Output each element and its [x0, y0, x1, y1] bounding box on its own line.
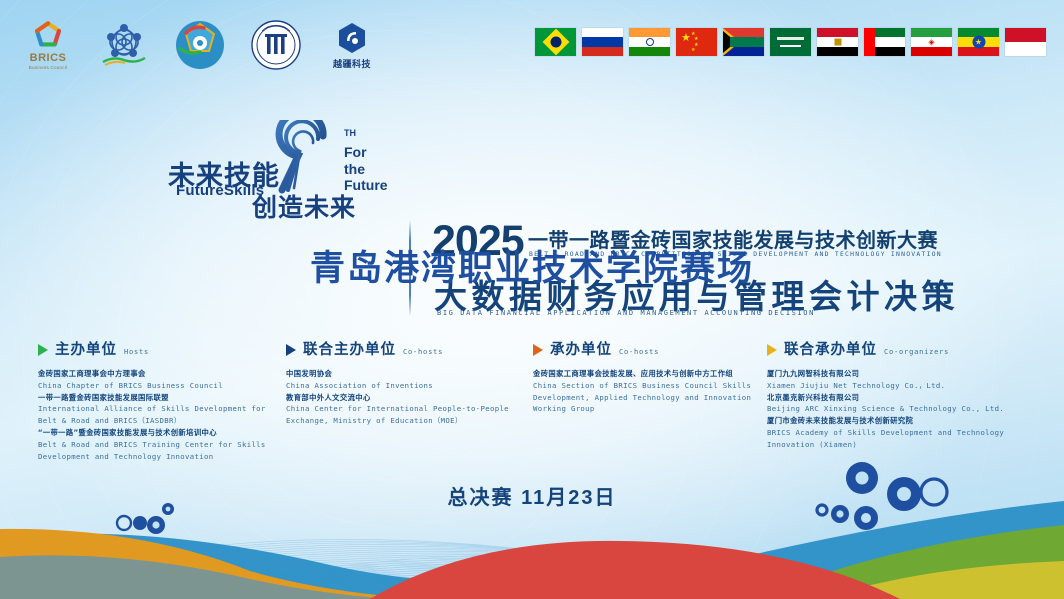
track-title-en: BIG DATA FINANCIAL APPLICATION AND MANAG… — [437, 309, 815, 317]
organizer-name-en: Beijing ARC Xinxing Science & Technology… — [767, 403, 1027, 415]
partner-logo-strip: BRICS Business Council — [20, 16, 380, 74]
invention-association-logo — [96, 16, 152, 74]
organizer-role-en: Co-hosts — [403, 348, 443, 356]
academy-emblem-logo — [248, 16, 304, 74]
molecule-emblem-icon — [97, 20, 151, 70]
organizer-name-en: China Association of Inventions — [286, 380, 533, 392]
organizer-name-en: International Alliance of Skills Develop… — [38, 403, 286, 427]
flag-ethiopia: ★ — [958, 28, 999, 56]
flag-egypt — [817, 28, 858, 56]
organizer-name-en: BRICS Academy of Skills Development and … — [767, 427, 1027, 451]
country-flags: ★ ★ ★ ★ ★ — [535, 28, 1046, 56]
organizer-name-en: China Center for International People-to… — [286, 403, 533, 427]
organizer-role-en: Hosts — [124, 348, 149, 356]
organizer-role-cn: 主办单位 — [55, 338, 117, 359]
flag-iran: ◈ — [911, 28, 952, 56]
flag-united-arab-emirates — [864, 28, 905, 56]
organizer-role-cn: 联合主办单位 — [303, 338, 396, 359]
venue-title: 青岛港湾职业技术学院赛场 — [0, 240, 1064, 291]
organizer-name-cn: 教育部中外人文交流中心 — [286, 392, 533, 404]
skills-alliance-logo — [172, 16, 228, 74]
organizer-heading: 联合承办单位Co-organizers — [767, 338, 1027, 359]
triangle-bullet-icon — [533, 344, 543, 356]
organizer-role-cn: 承办单位 — [550, 338, 612, 359]
organizer-name-en: Xiamen Jiujiu Net Technology Co.，Ltd. — [767, 380, 1027, 392]
brics-business-council-logo: BRICS Business Council — [20, 16, 76, 74]
organizer-role-cn: 联合承办单位 — [784, 338, 877, 359]
organizer-heading: 承办单位Co-hosts — [533, 338, 767, 359]
organizer-heading: 主办单位Hosts — [38, 338, 286, 359]
triangle-bullet-icon — [767, 344, 777, 356]
triangle-bullet-icon — [286, 344, 296, 356]
organizer-column-2: 联合主办单位Co-hosts中国发明协会China Association of… — [286, 338, 533, 463]
organizer-list: 金砖国家工商理事会中方理事会China Chapter of BRICS Bus… — [38, 368, 286, 463]
organizer-name-cn: “一带一路”暨金砖国家技能发展与技术创新培训中心 — [38, 427, 286, 439]
footer-waves — [0, 479, 1064, 599]
flag-brazil — [535, 28, 576, 56]
organizer-column-1: 主办单位Hosts金砖国家工商理事会中方理事会China Chapter of … — [38, 338, 286, 463]
organizer-list: 厦门九九网智科技有限公司Xiamen Jiujiu Net Technology… — [767, 368, 1027, 451]
organizer-name-cn: 北京墨克新兴科技有限公司 — [767, 392, 1027, 404]
flag-south-africa — [723, 28, 764, 56]
yuejiang-technology-logo: 越疆科技 — [324, 16, 380, 74]
tagline-line1: For — [344, 144, 388, 161]
organizer-column-4: 联合承办单位Co-organizers厦门九九网智科技有限公司Xiamen Ji… — [767, 338, 1027, 463]
brics-logo-label: BRICS — [30, 53, 67, 65]
organizer-list: 金砖国家工商理事会技能发展、应用技术与创新中方工作组China Section … — [533, 368, 767, 415]
organizer-name-cn: 中国发明协会 — [286, 368, 533, 380]
hero-block: 未来技能 FutureSkills TH — [0, 104, 1064, 234]
poster-canvas: BRICS Business Council — [0, 0, 1064, 599]
organizer-name-cn: 厦门市金砖未来技能发展与技术创新研究院 — [767, 415, 1027, 427]
organizer-name-en: Belt & Road and BRICS Training Center fo… — [38, 439, 286, 463]
organizer-name-cn: 金砖国家工商理事会技能发展、应用技术与创新中方工作组 — [533, 368, 767, 380]
edition-suffix: TH — [344, 128, 356, 138]
academy-seal-icon — [250, 19, 302, 71]
flag-russia — [582, 28, 623, 56]
organizer-name-cn: 一带一路暨金砖国家技能发展国际联盟 — [38, 392, 286, 404]
organizer-columns: 主办单位Hosts金砖国家工商理事会中方理事会China Chapter of … — [38, 338, 1034, 463]
hexagon-chip-icon — [335, 21, 369, 55]
organizer-name-en: China Section of BRICS Business Council … — [533, 380, 767, 415]
flag-china: ★ ★ ★ ★ ★ — [676, 28, 717, 56]
yuejiang-label: 越疆科技 — [333, 57, 371, 70]
flag-india — [629, 28, 670, 56]
globe-star-emblem-icon — [174, 19, 226, 71]
brics-star-icon — [31, 20, 65, 52]
futureskills-logo: 未来技能 FutureSkills TH — [168, 124, 388, 216]
flag-indonesia — [1005, 28, 1046, 56]
organizer-name-en: China Chapter of BRICS Business Council — [38, 380, 286, 392]
flag-saudi-arabia — [770, 28, 811, 56]
organizer-name-cn: 金砖国家工商理事会中方理事会 — [38, 368, 286, 380]
brand-tagline-cn: 创造未来 — [252, 188, 356, 224]
organizer-heading: 联合主办单位Co-hosts — [286, 338, 533, 359]
brics-logo-sublabel: Business Council — [29, 65, 67, 70]
organizer-role-en: Co-organizers — [884, 348, 949, 356]
triangle-bullet-icon — [38, 344, 48, 356]
organizer-name-cn: 厦门九九网智科技有限公司 — [767, 368, 1027, 380]
organizer-list: 中国发明协会China Association of Inventions教育部… — [286, 368, 533, 427]
organizer-role-en: Co-hosts — [619, 348, 659, 356]
brand-tagline: For the Future — [344, 144, 388, 194]
organizer-column-3: 承办单位Co-hosts金砖国家工商理事会技能发展、应用技术与创新中方工作组Ch… — [533, 338, 767, 463]
